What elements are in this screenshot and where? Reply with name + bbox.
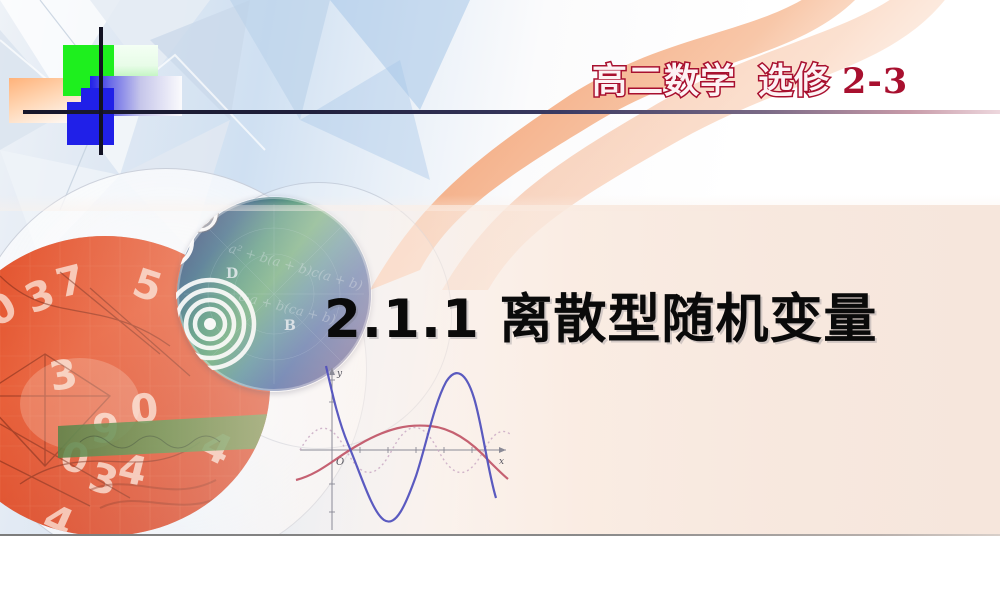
horizontal-rule-decor bbox=[23, 110, 1000, 114]
header-course-label: 高二数学 bbox=[592, 61, 736, 102]
vertical-rule-decor bbox=[99, 27, 103, 155]
page-whitespace bbox=[0, 536, 1000, 600]
presentation-slide: 8 0 3 7 5 3 9 0 0 3 4 6 4 2 4 bbox=[0, 0, 1000, 536]
slide-header: 高二数学选修2-3 bbox=[592, 64, 908, 99]
svg-text:y: y bbox=[336, 369, 343, 379]
sine-wave-chart-graphic: O x y bbox=[290, 362, 520, 536]
blue-foot-decor bbox=[67, 102, 91, 145]
header-elective-label: 选修 bbox=[758, 61, 830, 102]
header-elective-number: 2-3 bbox=[842, 61, 908, 102]
svg-text:x: x bbox=[499, 457, 504, 467]
page-title: 2.1.1 离散型随机变量 bbox=[324, 277, 877, 353]
colored-squares-logo bbox=[53, 28, 183, 156]
